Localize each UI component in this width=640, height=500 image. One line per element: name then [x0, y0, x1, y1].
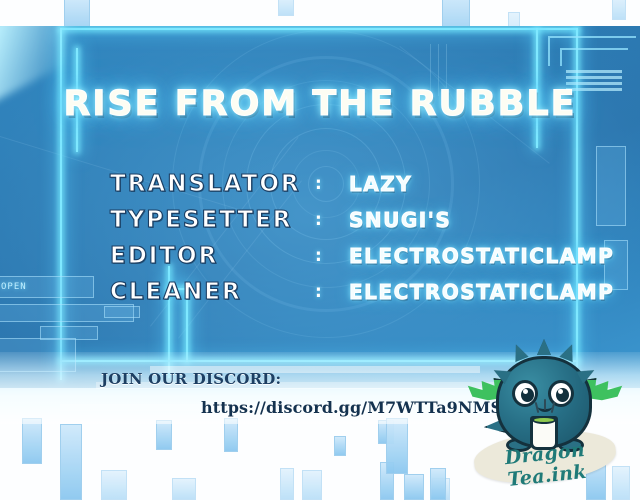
background-pillar [430, 468, 446, 500]
credit-row: TRANSLATOR : LAZY [110, 166, 630, 202]
background-pillar [280, 468, 294, 500]
dragon-horn-icon [537, 339, 551, 355]
credit-row: TYPESETTER : SNUGI'S [110, 202, 630, 238]
credit-row: EDITOR : ELECTROSTATICLAMP [110, 238, 630, 274]
hud-open-label: OPEN [1, 282, 27, 292]
background-pillar [22, 418, 42, 464]
credit-role-label: TYPESETTER [110, 207, 315, 233]
discord-invite-link[interactable]: https://discord.gg/M7WTTa9NMS [201, 398, 502, 417]
background-pillar [612, 0, 626, 20]
tech-panel-background: OPEN RISE FROM THE RUBBLE TRANSLATOR : L… [0, 26, 640, 388]
discord-label: JOIN OUR DISCORD: [101, 370, 281, 388]
tech-hairline [446, 44, 447, 88]
credits-list: TRANSLATOR : LAZY TYPESETTER : SNUGI'S E… [110, 166, 630, 310]
dragon-eye-glint-icon [523, 389, 528, 394]
credit-person-name: ELECTROSTATICLAMP [349, 244, 614, 268]
credits-page: OPEN RISE FROM THE RUBBLE TRANSLATOR : L… [0, 0, 640, 500]
credit-person-name: LAZY [349, 172, 412, 196]
background-pillar [60, 424, 82, 500]
credit-separator: : [315, 174, 349, 194]
background-pillar [101, 470, 127, 500]
credit-role-label: EDITOR [110, 243, 315, 269]
credit-person-name: SNUGI'S [349, 208, 451, 232]
background-pillar [156, 420, 172, 450]
credit-role-label: CLEANER [110, 279, 315, 305]
tea-steam-icon [544, 399, 546, 410]
background-pillar [278, 0, 294, 16]
credit-role-label: TRANSLATOR [110, 171, 315, 197]
frame-glow-line-top [60, 28, 578, 30]
circuit-trace [560, 48, 628, 66]
credit-separator: : [315, 210, 349, 230]
background-pillar [172, 478, 196, 500]
mascot-logo: Dragon Tea.ink [470, 350, 620, 495]
green-tea-icon [532, 416, 556, 424]
background-pillar [404, 474, 424, 500]
background-pillar [334, 436, 346, 456]
background-pillar [302, 470, 322, 500]
credit-separator: : [315, 246, 349, 266]
dragon-eye-glint-icon [558, 389, 563, 394]
background-pillar [386, 418, 408, 474]
credit-separator: : [315, 282, 349, 302]
credit-row: CLEANER : ELECTROSTATICLAMP [110, 274, 630, 310]
page-title: RISE FROM THE RUBBLE [0, 84, 640, 124]
credit-person-name: ELECTROSTATICLAMP [349, 280, 614, 304]
